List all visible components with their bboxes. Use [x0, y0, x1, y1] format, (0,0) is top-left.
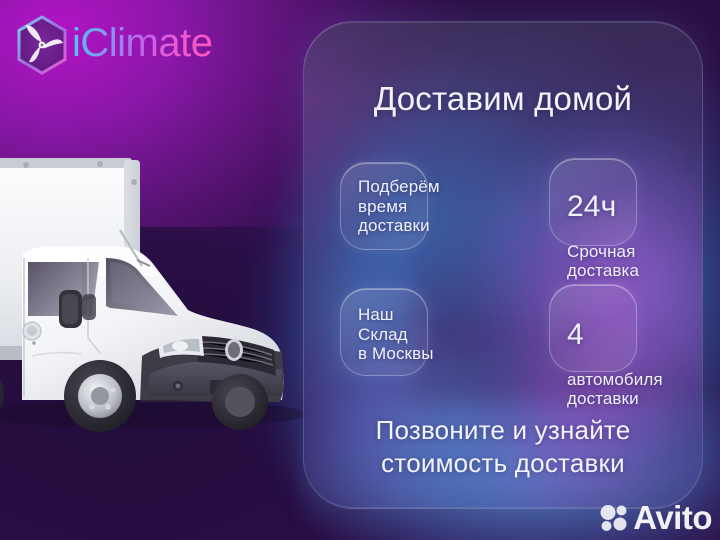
advertisement-banner: iClimate Доставим домой Подберём время д…	[0, 0, 720, 540]
feature-label-urgent-delivery: Срочная доставка	[567, 242, 639, 281]
feature-text-urgent-delivery: 24ч Срочная доставка	[567, 172, 639, 300]
brand-logo[interactable]: iClimate	[14, 14, 212, 76]
delivery-truck-image	[0, 138, 312, 434]
feature-number-fleet: 4	[567, 319, 663, 351]
avito-label: Avito	[633, 501, 712, 534]
brand-name: iClimate	[72, 23, 212, 67]
panel-title: Доставим домой	[304, 80, 702, 118]
feature-number-urgent-delivery: 24ч	[567, 191, 639, 223]
feature-text-warehouse: Наш Склад в Москвы	[358, 305, 434, 364]
avito-watermark: Avito	[599, 501, 712, 534]
avito-dots-icon	[599, 503, 629, 533]
feature-text-pickup-time: Подберём время доставки	[358, 177, 440, 236]
hexagon-fan-icon	[14, 14, 70, 76]
info-panel: Доставим домой Подберём время доставки 2…	[303, 21, 703, 509]
feature-text-fleet: 4 автомобиля доставки	[567, 300, 663, 428]
feature-label-fleet: автомобиля доставки	[567, 370, 663, 409]
